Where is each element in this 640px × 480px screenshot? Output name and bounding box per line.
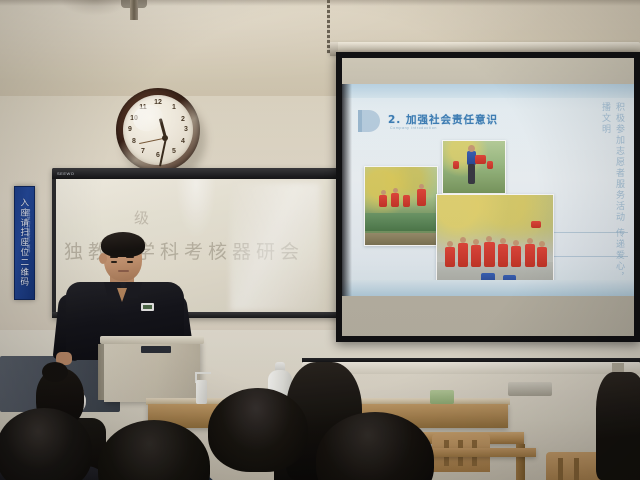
clock-face: 12 1 2 3 4 5 6 7 8 9 10 11 [123, 95, 193, 165]
slide-title: 2. 加强社会责任意识 [388, 112, 498, 127]
photo-figure-head [381, 190, 386, 195]
photo-figure [445, 247, 455, 267]
photo-figure-head [419, 184, 424, 189]
hair-bun [42, 362, 68, 382]
photo-figure [391, 193, 399, 207]
clock-center-pin [162, 135, 168, 141]
photo-figure [537, 247, 547, 267]
photo-vehicle [531, 221, 541, 228]
presentation-slide: 2. 加强社会责任意识 Company introduction 积极参加志愿者… [342, 84, 634, 296]
seating-qr-banner-subtext: 请同学们扫描座位二维码 [27, 209, 32, 253]
clock-numeral: 8 [129, 137, 139, 147]
photo-figure-head [513, 240, 519, 246]
photo-figure-head [527, 238, 533, 244]
slide-photo-volunteer-group [436, 194, 554, 292]
photo-hedge [365, 213, 437, 231]
slide-top-band [342, 84, 634, 98]
slide-photo-volunteer-park [442, 140, 506, 194]
photo-figure [417, 189, 426, 206]
lectern-top [100, 336, 204, 344]
clock-numeral: 4 [178, 137, 188, 147]
slide-photo-volunteers-cleaning [364, 166, 438, 246]
photo-figure-head [486, 236, 492, 242]
lectern-control-panel[interactable] [141, 346, 171, 353]
photo-figure [498, 244, 508, 267]
projector-wall-mount [508, 382, 552, 396]
photo-figure [471, 245, 481, 267]
ceiling-stain [60, 0, 130, 16]
wall-clock: 12 1 2 3 4 5 6 7 8 9 10 11 [116, 88, 204, 178]
green-box [430, 390, 454, 404]
attendee-far-right [596, 372, 640, 480]
photo-figure-head [460, 237, 466, 243]
presenter-eye [111, 261, 117, 263]
lower-board-rail [302, 362, 640, 374]
clock-numeral: 3 [181, 125, 191, 135]
photo-figure-head [468, 145, 475, 152]
photo-figure [484, 242, 495, 267]
photo-figure-head [539, 241, 545, 247]
clock-numeral: 2 [178, 115, 188, 125]
chair-slat [558, 458, 563, 480]
whiteboard-glare-spot [176, 179, 216, 239]
photo-figure [475, 155, 486, 164]
slide-left-shadow [342, 84, 352, 296]
photo-figure [458, 243, 468, 267]
photo-figure-head [500, 238, 506, 244]
classroom-scene: 12 1 2 3 4 5 6 7 8 9 10 11 入座请扫座位二维码 请同学… [0, 0, 640, 480]
projector-screen[interactable]: 2. 加强社会责任意识 Company introduction 积极参加志愿者… [336, 52, 640, 342]
slide-bottom-band [342, 280, 634, 296]
clock-numeral: 9 [125, 125, 135, 135]
photo-figure [403, 195, 410, 207]
photo-figure [453, 161, 459, 169]
photo-figure [511, 246, 521, 267]
clock-numeral: 7 [138, 147, 148, 157]
photo-figure [525, 244, 535, 267]
photo-figure-head [473, 239, 479, 245]
board-rail-end-cap [612, 363, 624, 372]
seating-qr-banner: 入座请扫座位二维码 请同学们扫描座位二维码 [14, 186, 35, 300]
whiteboard-brand-label: SEEWO [57, 171, 74, 176]
photo-figure [487, 161, 493, 169]
presenter-hair [101, 232, 145, 257]
photo-ground [365, 233, 437, 245]
slide-subtitle: Company introduction [390, 126, 437, 130]
slide-vertical-text: 积极参加志愿者服务活动 传递爱心，传播文明 [598, 102, 626, 296]
clock-numeral: 1 [169, 103, 179, 113]
slide-logo-icon [362, 110, 380, 132]
clock-numeral: 5 [169, 147, 179, 157]
hand-sanitizer-bottle [196, 380, 207, 404]
projector-screen-surface: 2. 加强社会责任意识 Company introduction 积极参加志愿者… [342, 58, 634, 336]
photo-figure [379, 195, 387, 207]
photo-figure-head [393, 188, 398, 193]
whiteboard-top-bar: SEEWO [52, 168, 342, 179]
whiteboard-glare [230, 183, 320, 311]
student-head-back-view [208, 388, 308, 472]
whiteboard-writing-line-2: 级 [134, 207, 154, 228]
chair-slat [574, 458, 579, 480]
north-face-logo-mark [143, 305, 152, 309]
photo-figure [468, 164, 475, 184]
ceiling-pipe [130, 0, 138, 20]
presenter-eye [127, 261, 133, 263]
presenter-mouth [118, 270, 129, 272]
photo-figure-head [447, 241, 453, 247]
